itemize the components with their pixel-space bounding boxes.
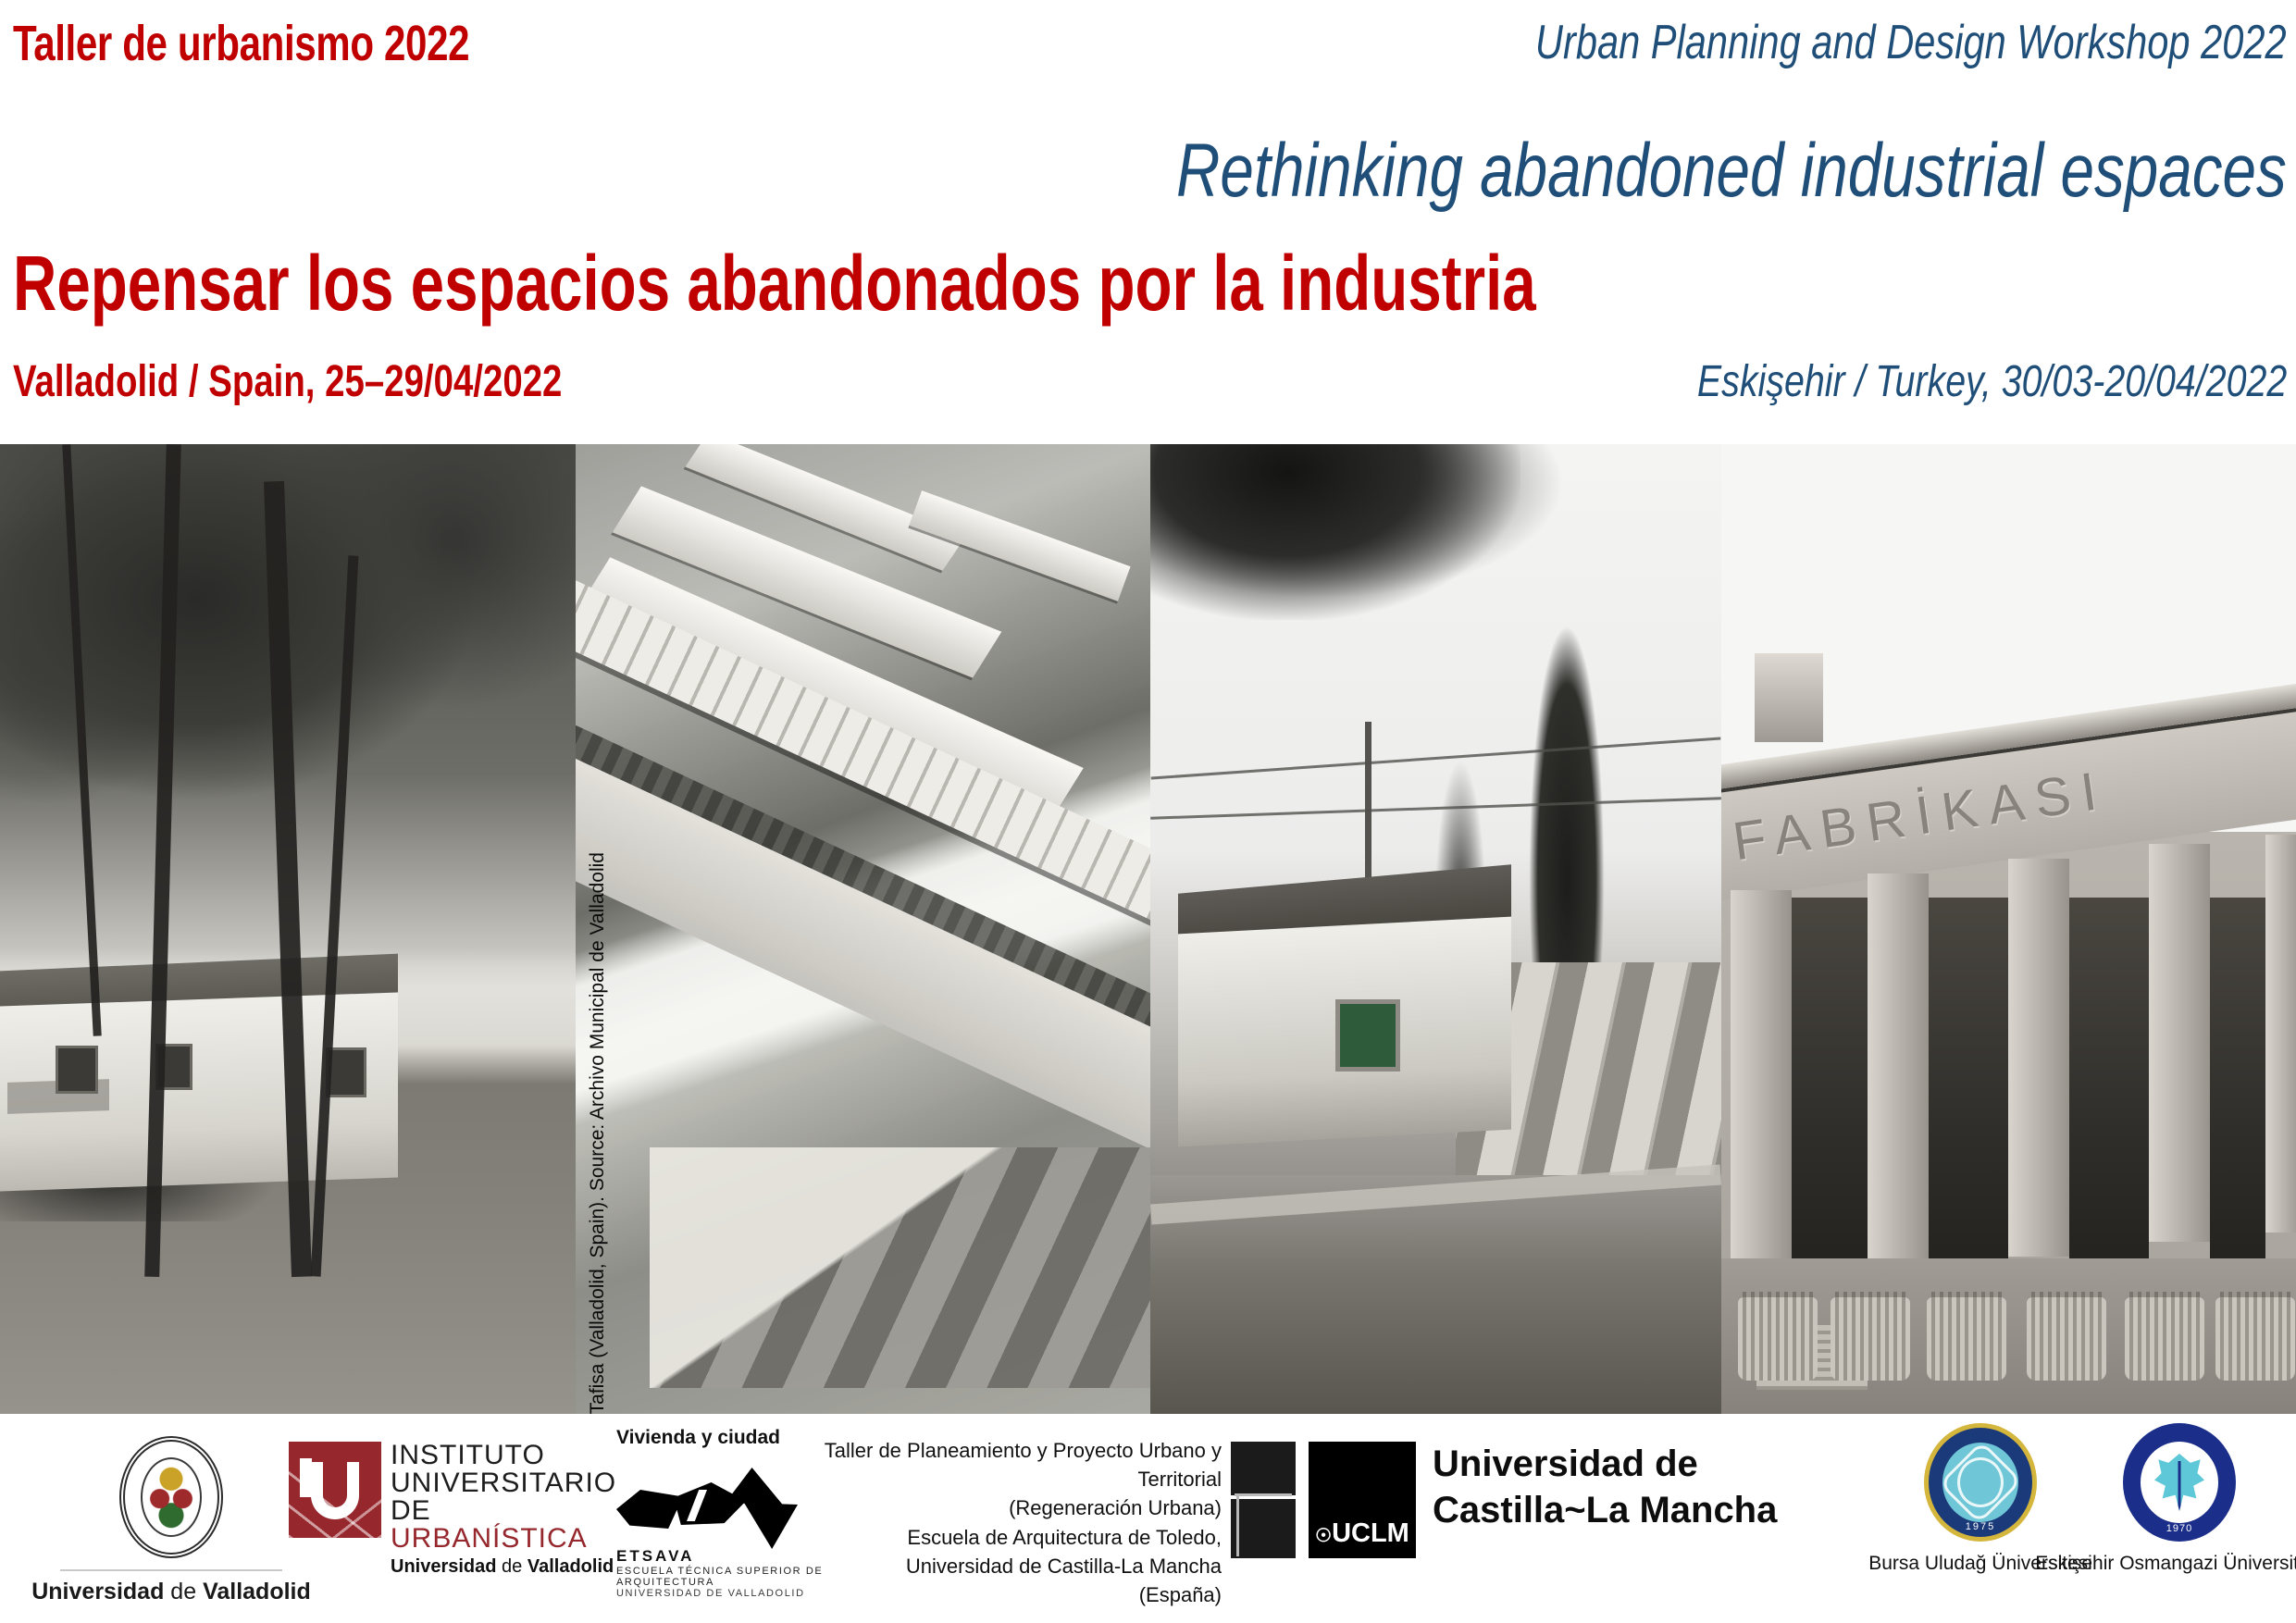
uclm-antenna-icon: ☉ xyxy=(1315,1526,1332,1546)
iuu-word-de: DE xyxy=(391,1495,431,1526)
etsava-university-line: UNIVERSIDAD DE VALLADOLID xyxy=(616,1588,828,1599)
column xyxy=(2149,844,2210,1242)
village-rooftops xyxy=(650,1147,1150,1388)
iuu-line-instituto: INSTITUTO xyxy=(391,1442,616,1469)
etsava-school-line: ESCUELA TÉCNICA SUPERIOR DE ARQUITECTURA xyxy=(616,1566,828,1588)
uclm-acronym: UCLM xyxy=(1332,1518,1409,1548)
photo-strip: Tafisa (Valladolid, Spain). Source: Arch… xyxy=(0,444,2296,1414)
logo-etsava-vivienda-y-ciudad: Vivienda y ciudad ETSAVA ESCUELA TÉCNICA… xyxy=(611,1427,828,1612)
uclm-name-line-2: Castilla~La Mancha xyxy=(1433,1488,1777,1534)
uclm-name-line-1: Universidad de xyxy=(1433,1442,1777,1488)
logo-universidad-castilla-la-mancha: ☉UCLM Universidad de Castilla~La Mancha xyxy=(1231,1442,1860,1608)
logo-bursa-uludag-universitesi: 1975 Bursa Uludağ Üniversitesi xyxy=(1888,1423,2073,1617)
woven-basket xyxy=(1831,1292,1910,1381)
uva-coat-of-arms-icon xyxy=(141,1457,202,1537)
uclm-mark-text: ☉UCLM xyxy=(1315,1518,1409,1549)
uva-word-universidad: Universidad xyxy=(31,1579,170,1604)
etsava-shape xyxy=(726,1468,783,1508)
divider xyxy=(60,1569,282,1571)
uclm-desc-line-4: Universidad de Castilla-La Mancha xyxy=(814,1552,1222,1580)
woven-basket xyxy=(2125,1292,2204,1381)
iuu-word-urbanistica: URBANÍSTICA xyxy=(391,1523,588,1554)
poster-header: Taller de urbanismo 2022 Urban Planning … xyxy=(0,0,2296,444)
bursa-seal-ornament xyxy=(1942,1443,2018,1522)
etsava-acronym: ETSAVA xyxy=(616,1547,828,1566)
english-main-title: Rethinking abandoned industrial espaces xyxy=(1176,128,2287,215)
colonnade xyxy=(1721,842,2296,1286)
uclm-desc-line-2: (Regeneración Urbana) xyxy=(814,1493,1222,1522)
spanish-eyebrow-title: Taller de urbanismo 2022 xyxy=(13,15,469,72)
iuu-uva-universidad: Universidad xyxy=(391,1556,502,1577)
facade-bay xyxy=(1792,898,1868,1286)
woven-basket xyxy=(2215,1292,2295,1381)
uclm-wordmark: Universidad de Castilla~La Mancha xyxy=(1433,1442,1777,1533)
osmangazi-leaf-icon xyxy=(2154,1454,2204,1511)
vivienda-y-ciudad-label: Vivienda y ciudad xyxy=(616,1427,828,1449)
osmangazi-seal-center xyxy=(2141,1442,2218,1523)
iuu-line-universitario: UNIVERSITARIO xyxy=(391,1469,616,1497)
uva-wordmark: Universidad de Valladolid xyxy=(31,1579,311,1605)
uclm-tee-horizontal xyxy=(1235,1493,1292,1496)
column xyxy=(1868,873,1929,1271)
photo-street-cypress xyxy=(1150,444,1721,1414)
chimney xyxy=(1755,653,1823,742)
photo-abandoned-houses-valladolid xyxy=(0,444,576,1414)
osmangazi-founding-year: 1970 xyxy=(2127,1523,2232,1534)
iuu-line-universidad-valladolid: Universidad de Valladolid xyxy=(391,1557,616,1576)
window xyxy=(56,1046,98,1094)
spain-location-dates: Valladolid / Spain, 25–29/04/2022 xyxy=(13,356,562,407)
facade-bay xyxy=(2210,898,2265,1286)
window xyxy=(1335,999,1400,1072)
woven-basket xyxy=(1738,1292,1818,1381)
tree-trunk xyxy=(62,444,101,1036)
poster-root: Taller de urbanismo 2022 Urban Planning … xyxy=(0,0,2296,1623)
iuu-line-de-urbanistica: DE URBANÍSTICA xyxy=(391,1497,616,1553)
uclm-mark-icon: ☉UCLM xyxy=(1309,1442,1416,1558)
etsava-shape xyxy=(674,1482,746,1525)
photo-credit-text: Tafisa (Valladolid, Spain). Source: Arch… xyxy=(587,843,609,1414)
photo-credit-caption: Tafisa (Valladolid, Spain). Source: Arch… xyxy=(577,444,618,1414)
etsava-shape xyxy=(616,1490,683,1529)
uclm-bars-icon xyxy=(1231,1442,1296,1558)
bursa-founding-year: 1975 xyxy=(1929,1521,2032,1532)
etsava-mark-icon xyxy=(616,1462,801,1542)
photo-fabrikasi-facade: FABRİKASI xyxy=(1721,444,2296,1414)
tree-canopy xyxy=(1150,444,1520,620)
photo-tafisa-aerial-archive: Tafisa (Valladolid, Spain). Source: Arch… xyxy=(576,444,1150,1414)
column xyxy=(1731,890,1792,1288)
iuu-uva-de: de xyxy=(502,1556,527,1577)
osmangazi-university-name: Eskişehir Osmangazi Üniversitesi xyxy=(2035,1553,2296,1575)
turkey-location-dates: Eskişehir / Turkey, 30/03-20/04/2022 xyxy=(1697,356,2287,407)
uclm-tee-vertical xyxy=(1236,1493,1239,1556)
uclm-workshop-description: Taller de Planeamiento y Proyecto Urbano… xyxy=(814,1436,1222,1609)
uclm-bar xyxy=(1231,1442,1296,1495)
uva-word-de: de xyxy=(170,1579,203,1604)
logo-eskisehir-osmangazi-universitesi: 1970 Eskişehir Osmangazi Üniversitesi xyxy=(2073,1423,2286,1617)
bursa-seal-icon: 1975 xyxy=(1924,1423,2037,1542)
english-eyebrow-title: Urban Planning and Design Workshop 2022 xyxy=(1535,15,2287,70)
column xyxy=(2008,859,2069,1257)
logo-instituto-universitario-de-urbanistica: INSTITUTO UNIVERSITARIO DE URBANÍSTICA U… xyxy=(289,1442,608,1608)
iuu-wordmark: INSTITUTO UNIVERSITARIO DE URBANÍSTICA U… xyxy=(391,1442,616,1576)
uva-seal-icon xyxy=(119,1436,223,1558)
uclm-bar xyxy=(1231,1499,1296,1558)
iuu-letter-u xyxy=(311,1462,359,1519)
uclm-desc-line-1: Taller de Planeamiento y Proyecto Urbano… xyxy=(814,1436,1222,1493)
osmangazi-seal-icon: 1970 xyxy=(2123,1423,2236,1542)
woven-basket xyxy=(1927,1292,2006,1381)
column xyxy=(2265,835,2296,1233)
sponsor-logo-bar: Universidad de Valladolid INSTITUTO UNIV… xyxy=(0,1414,2296,1623)
logo-universidad-de-valladolid: Universidad de Valladolid xyxy=(37,1427,305,1612)
woven-basket xyxy=(2027,1292,2106,1381)
uclm-desc-line-5: (España) xyxy=(814,1580,1222,1609)
spanish-main-title: Repensar los espacios abandonados por la… xyxy=(13,239,1536,328)
facade-bay xyxy=(1929,898,2008,1286)
uclm-desc-line-3: Escuela de Arquitectura de Toledo, xyxy=(814,1523,1222,1552)
facade-bay xyxy=(2069,898,2149,1286)
iuu-uva-valladolid: Valladolid xyxy=(527,1556,614,1577)
iuu-mark-icon xyxy=(289,1442,381,1538)
etsava-shape xyxy=(744,1503,798,1549)
